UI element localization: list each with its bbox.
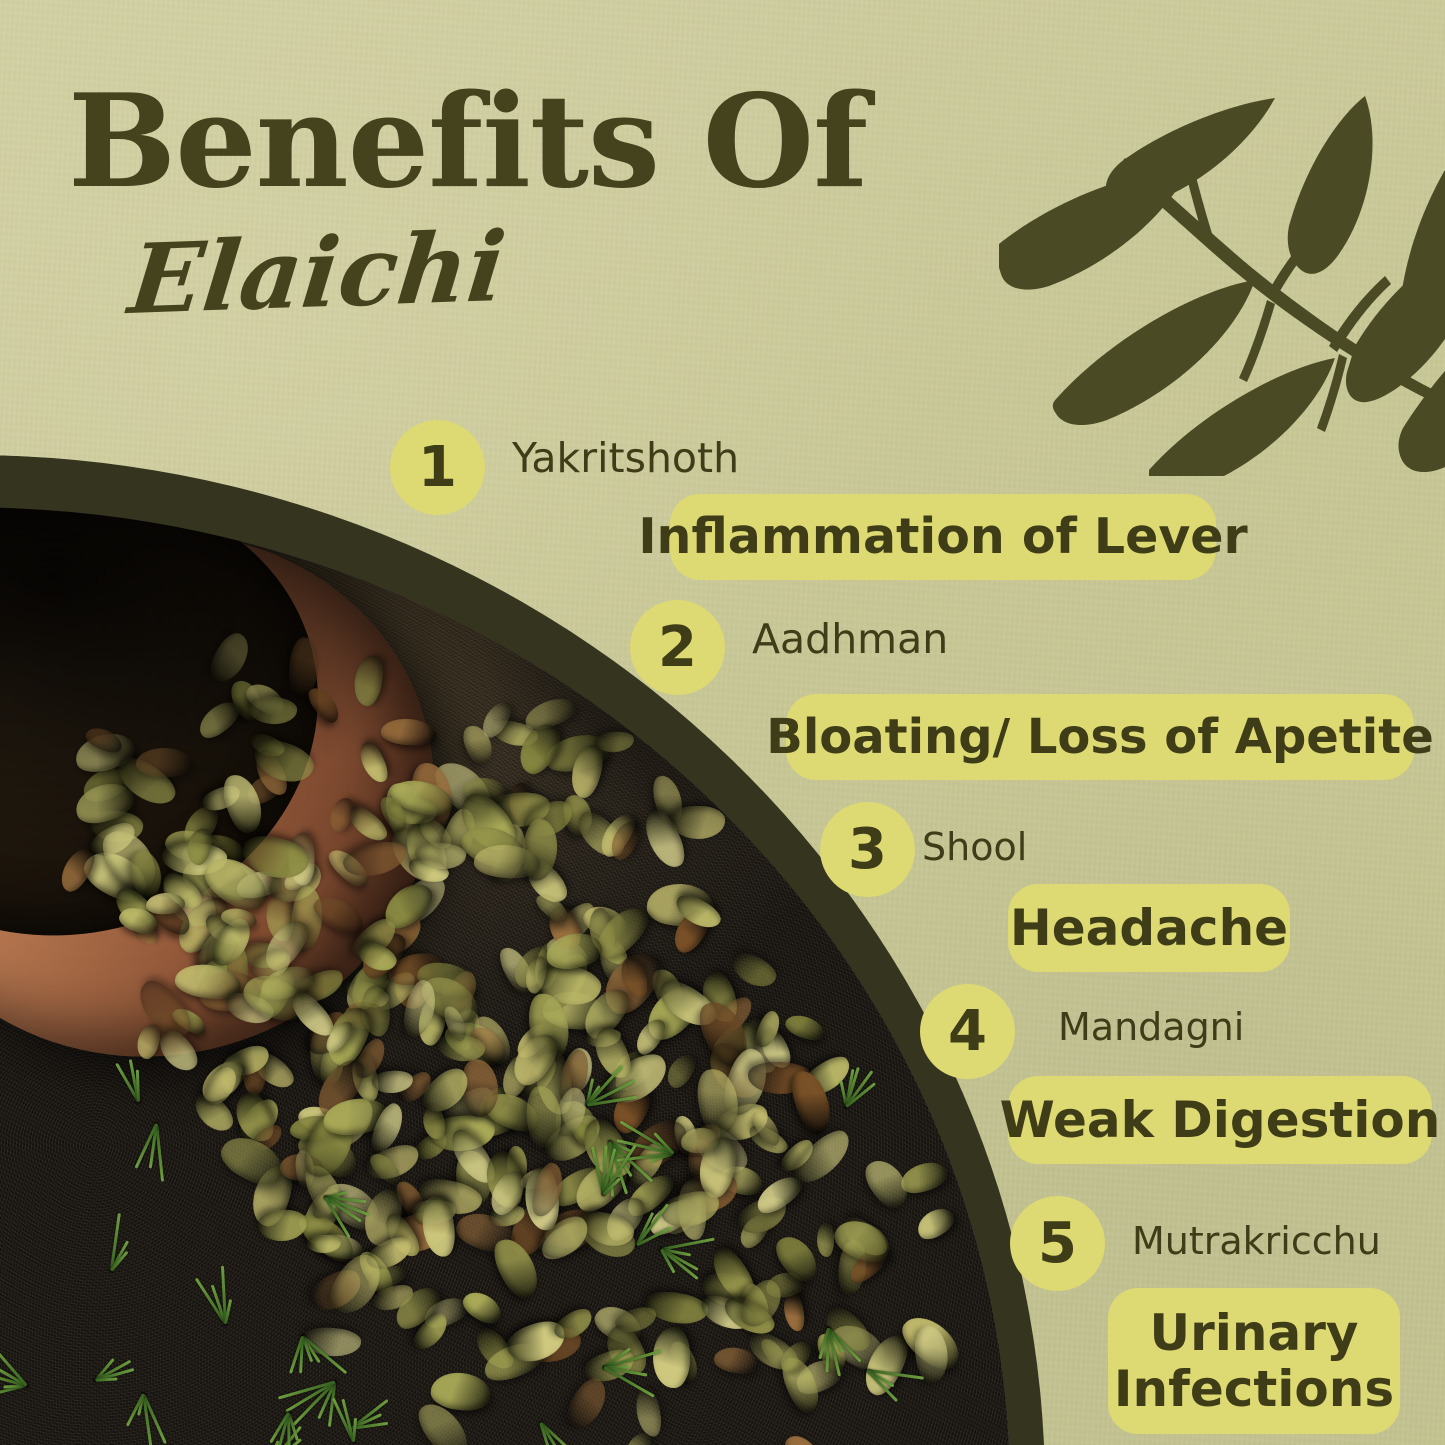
benefit-term-3: Shool (922, 828, 1027, 866)
benefit-badge-1[interactable]: 1 (390, 420, 485, 515)
benefits-list: 1 Yakritshoth Inflammation of Lever 2 Aa… (0, 0, 1445, 1445)
benefit-badge-3[interactable]: 3 (820, 802, 915, 897)
benefit-term-5: Mutrakricchu (1132, 1222, 1381, 1260)
infographic-poster: Benefits Of Elaichi (0, 0, 1445, 1445)
benefit-meaning-4: Weak Digestion (1008, 1076, 1432, 1164)
benefit-badge-5[interactable]: 5 (1010, 1196, 1105, 1291)
benefit-term-1: Yakritshoth (512, 438, 739, 479)
benefit-badge-4[interactable]: 4 (920, 984, 1015, 1079)
benefit-meaning-5: Urinary Infections (1108, 1288, 1400, 1434)
benefit-meaning-1: Inflammation of Lever (670, 494, 1216, 580)
benefit-term-2: Aadhman (752, 619, 948, 660)
benefit-meaning-2: Bloating/ Loss of Apetite (786, 694, 1414, 780)
benefit-term-4: Mandagni (1058, 1008, 1244, 1046)
benefit-badge-2[interactable]: 2 (630, 600, 725, 695)
benefit-meaning-3: Headache (1008, 884, 1290, 972)
